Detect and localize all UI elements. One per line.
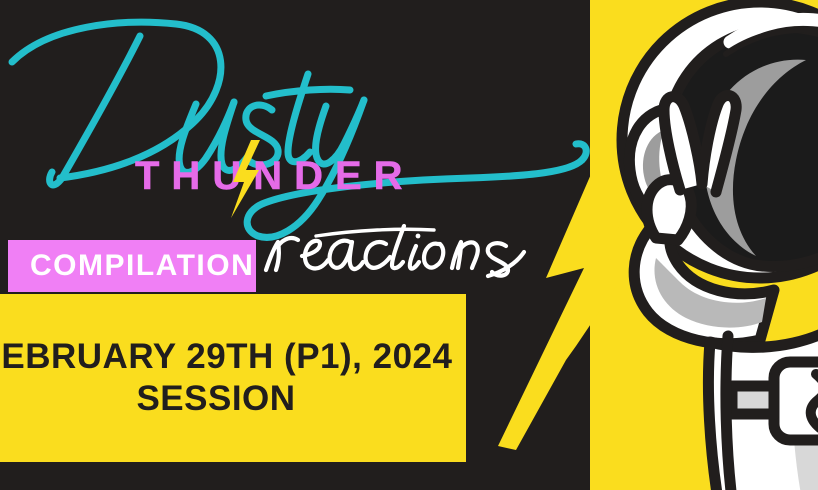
session-title: FEBRUARY 29TH (P1), 2024 SESSION xyxy=(0,336,466,420)
thunder-label: THUNDER xyxy=(135,152,475,200)
small-lightning-bolt-icon xyxy=(227,140,263,218)
compilation-label: COMPILATION xyxy=(8,240,254,292)
brand-subword-thunder: THUNDER xyxy=(135,152,475,200)
thumbnail-canvas: THUNDER xyxy=(0,0,818,490)
title-box: FEBRUARY 29TH (P1), 2024 SESSION xyxy=(0,294,466,462)
astronaut-illustration xyxy=(560,0,818,490)
compilation-badge: COMPILATION xyxy=(8,240,256,292)
